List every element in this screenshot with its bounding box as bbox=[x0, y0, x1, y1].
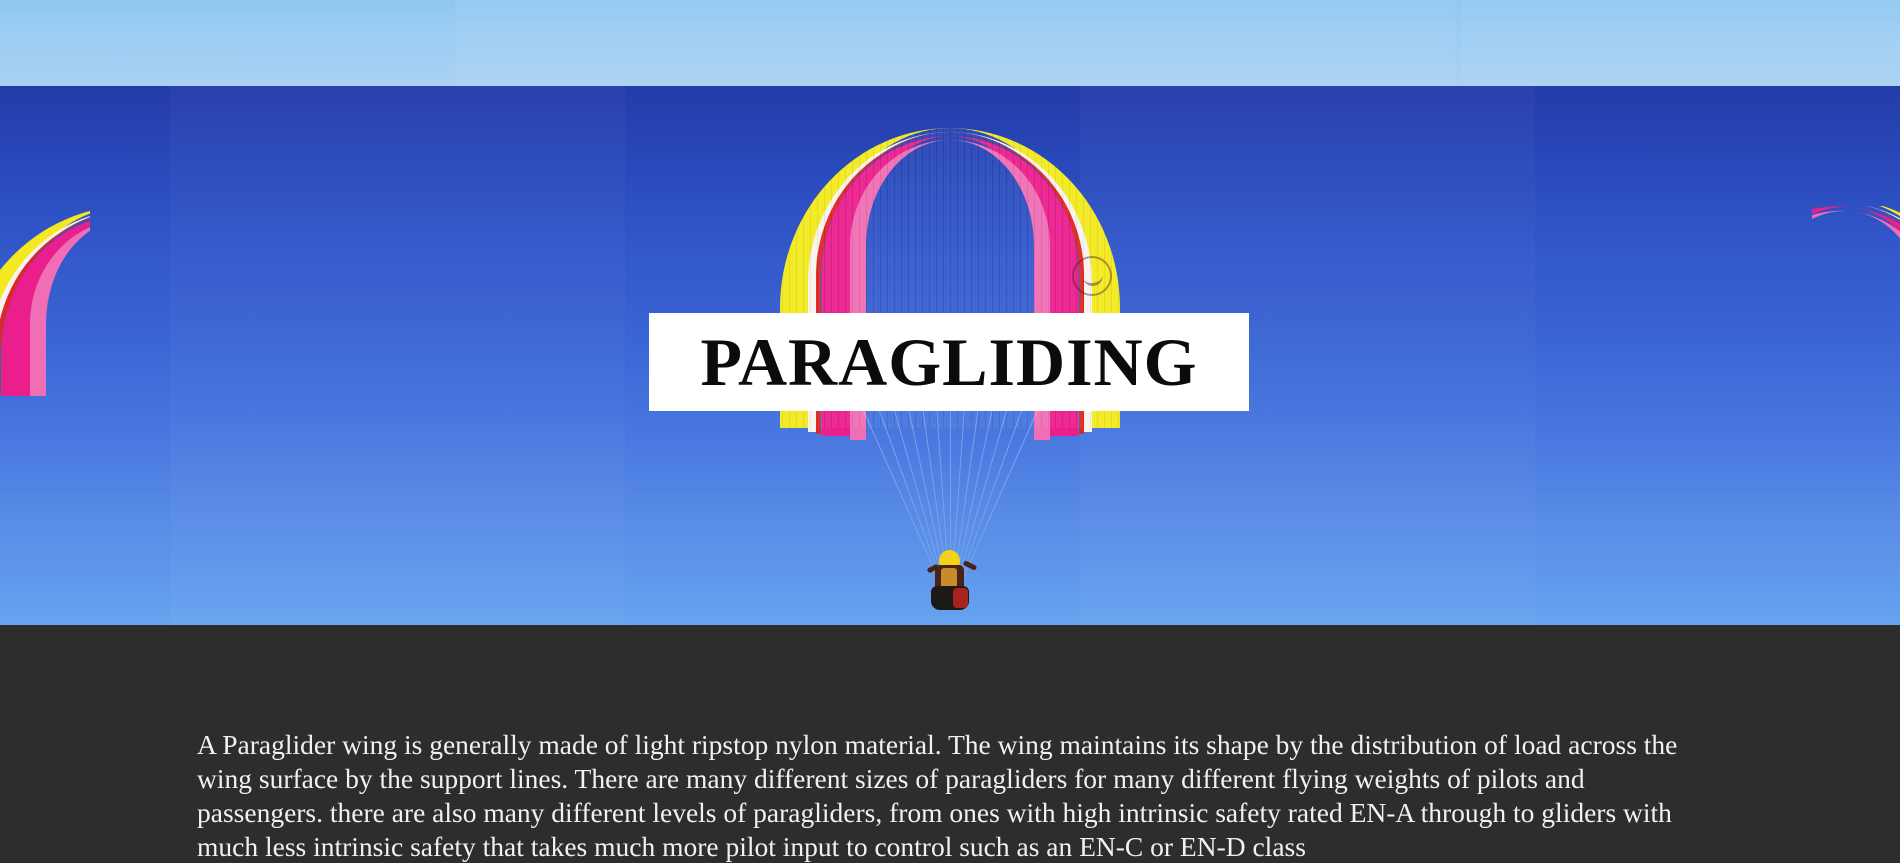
pilot-arm-right bbox=[963, 560, 978, 571]
paraglider-wing-left-crop bbox=[0, 206, 90, 396]
hero-title-plate: PARAGLIDING bbox=[649, 313, 1249, 411]
paraglider-pilot bbox=[927, 550, 973, 612]
pilot-vest bbox=[941, 568, 957, 588]
paraglider-wing-right-crop bbox=[1812, 206, 1900, 396]
background-tile-seam bbox=[455, 0, 1455, 86]
background-tile-seam bbox=[1462, 0, 1900, 86]
canopy-logo-icon bbox=[1072, 256, 1112, 296]
page-title: PARAGLIDING bbox=[700, 328, 1197, 396]
pilot-reserve-pack bbox=[953, 588, 968, 608]
content-section: A Paraglider wing is generally made of l… bbox=[0, 625, 1900, 863]
body-paragraph: A Paraglider wing is generally made of l… bbox=[197, 728, 1692, 863]
background-tile bbox=[170, 86, 625, 625]
page-root: PARAGLIDING A Paraglider wing is general… bbox=[0, 0, 1900, 863]
sky-strip-band bbox=[0, 0, 1900, 86]
